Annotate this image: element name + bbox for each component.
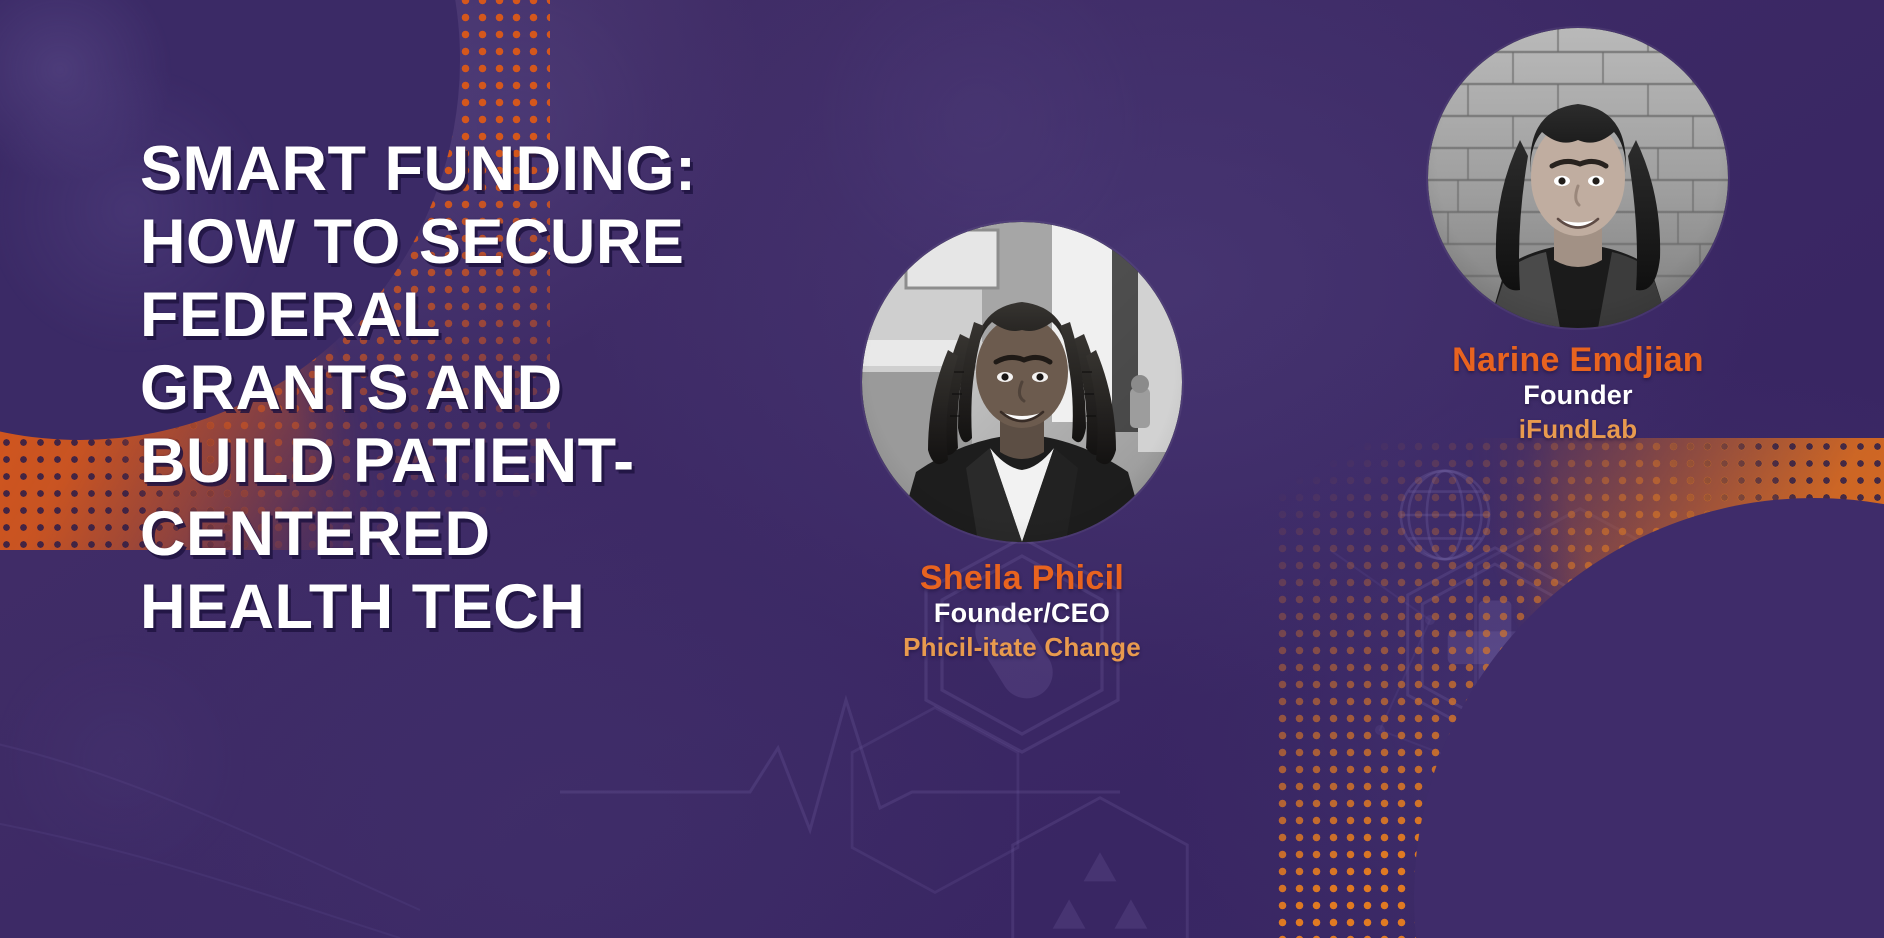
speaker-portrait-sheila: [862, 222, 1182, 542]
speaker-name: Narine Emdjian: [1368, 342, 1788, 379]
speaker-role: Founder/CEO: [822, 597, 1222, 631]
speaker-role: Founder: [1368, 379, 1788, 413]
headline-line: FEDERAL: [140, 279, 900, 352]
speaker-name: Sheila Phicil: [822, 560, 1222, 597]
speaker-card-narine: Narine Emdjian Founder iFundLab: [1368, 28, 1788, 446]
heartbeat-line-icon: [560, 660, 1120, 860]
headline-line: HOW TO SECURE: [140, 206, 900, 279]
headline-line: HEALTH TECH: [140, 571, 900, 644]
network-lines: [0, 700, 520, 938]
speaker-meta-sheila: Sheila Phicil Founder/CEO Phicil-itate C…: [822, 560, 1222, 664]
speaker-organization: Phicil-itate Change: [822, 631, 1222, 664]
speaker-portrait-narine: [1428, 28, 1728, 328]
speaker-organization: iFundLab: [1368, 413, 1788, 446]
headline: SMART FUNDING: HOW TO SECURE FEDERAL GRA…: [140, 133, 900, 644]
headline-line: CENTERED: [140, 498, 900, 571]
speaker-card-sheila: Sheila Phicil Founder/CEO Phicil-itate C…: [822, 222, 1222, 664]
headline-line: SMART FUNDING:: [140, 133, 900, 206]
webinar-promo-banner: SMART FUNDING: HOW TO SECURE FEDERAL GRA…: [0, 0, 1884, 938]
portrait-illustration: [862, 222, 1182, 542]
speaker-meta-narine: Narine Emdjian Founder iFundLab: [1368, 342, 1788, 446]
portrait-illustration: [1428, 28, 1728, 328]
headline-line: BUILD PATIENT-: [140, 425, 900, 498]
headline-line: GRANTS AND: [140, 352, 900, 425]
